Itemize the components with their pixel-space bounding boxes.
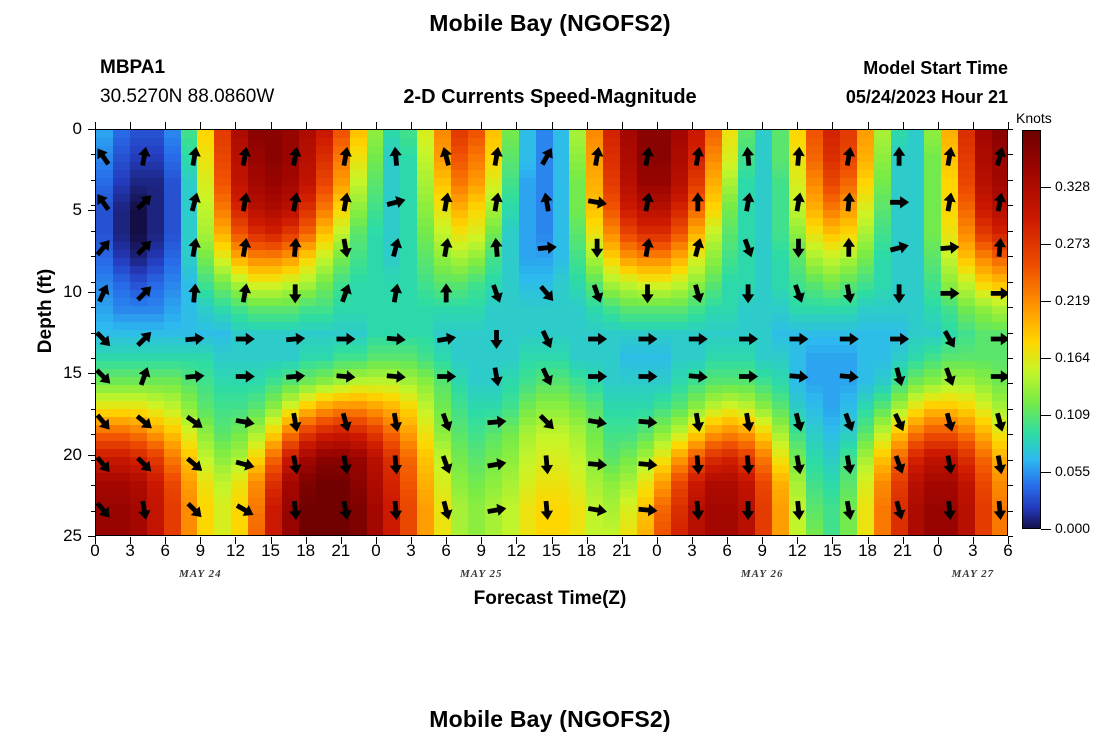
- y-axis-minor-tick: [91, 205, 96, 206]
- x-axis-tick-label: 21: [883, 541, 923, 561]
- x-axis-tick-top: [1008, 122, 1009, 129]
- y-axis-tick-label: 0: [36, 119, 82, 139]
- colorbar-tick-label: 0.219: [1055, 292, 1090, 308]
- y-axis-tick-label: 5: [36, 200, 82, 220]
- y-axis-minor-tick: [91, 409, 96, 410]
- x-axis-tick-label: 18: [848, 541, 888, 561]
- y-axis-minor-tick-right: [1008, 231, 1013, 232]
- x-axis-tick-top: [165, 122, 166, 129]
- x-axis-tick-label: 21: [602, 541, 642, 561]
- y-axis-minor-tick-right: [1008, 282, 1013, 283]
- x-axis-tick-top: [797, 122, 798, 129]
- colorbar-tick: [1041, 187, 1051, 188]
- x-axis-tick-label: 3: [672, 541, 712, 561]
- colorbar-units-label: Knots: [1016, 110, 1052, 126]
- x-axis-tick-label: 0: [356, 541, 396, 561]
- y-axis-minor-tick-right: [1008, 307, 1013, 308]
- y-axis-minor-tick: [91, 307, 96, 308]
- y-axis-minor-tick-right: [1008, 180, 1013, 181]
- x-axis-tick-top: [306, 122, 307, 129]
- x-axis-tick-label: 0: [75, 541, 115, 561]
- x-axis-tick-label: 3: [110, 541, 150, 561]
- x-axis-tick-label: 3: [953, 541, 993, 561]
- x-axis-tick-top: [130, 122, 131, 129]
- x-axis-tick-label: 12: [777, 541, 817, 561]
- y-axis-minor-tick-right: [1008, 485, 1013, 486]
- x-axis-tick-label: 21: [321, 541, 361, 561]
- x-axis-tick-label: 15: [251, 541, 291, 561]
- y-axis-minor-tick: [91, 256, 96, 257]
- x-axis-tick-top: [552, 122, 553, 129]
- y-axis-tick: [88, 210, 96, 211]
- colorbar-tick-label: 0.000: [1055, 520, 1090, 536]
- y-axis-minor-tick-right: [1008, 129, 1013, 130]
- y-axis-minor-tick-right: [1008, 460, 1013, 461]
- x-axis-tick-label: 9: [180, 541, 220, 561]
- y-axis-minor-tick: [91, 511, 96, 512]
- station-id-label: MBPA1: [100, 57, 165, 79]
- y-axis-minor-tick-right: [1008, 256, 1013, 257]
- x-axis-tick-top: [235, 122, 236, 129]
- colorbar: [1022, 130, 1041, 529]
- colorbar-tick-label: 0.273: [1055, 235, 1090, 251]
- x-axis-tick-label: 6: [145, 541, 185, 561]
- y-axis-minor-tick: [91, 282, 96, 283]
- y-axis-minor-tick-right: [1008, 434, 1013, 435]
- y-axis-minor-tick: [91, 180, 96, 181]
- y-axis-minor-tick: [91, 434, 96, 435]
- x-axis-tick-label: 15: [812, 541, 852, 561]
- colorbar-tick-label: 0.328: [1055, 178, 1090, 194]
- x-axis-tick-top: [516, 122, 517, 129]
- colorbar-tick: [1041, 472, 1051, 473]
- y-axis-minor-tick: [91, 358, 96, 359]
- model-start-time-label: Model Start Time: [863, 58, 1008, 79]
- colorbar-tick: [1041, 415, 1051, 416]
- x-axis-tick-top: [200, 122, 201, 129]
- x-axis-tick-top: [832, 122, 833, 129]
- x-axis-tick-top: [762, 122, 763, 129]
- y-axis-minor-tick-right: [1008, 383, 1013, 384]
- page-title-bottom: Mobile Bay (NGOFS2): [0, 706, 1100, 733]
- x-axis-tick-top: [622, 122, 623, 129]
- x-axis-title: Forecast Time(Z): [0, 588, 1100, 610]
- y-axis-minor-tick-right: [1008, 358, 1013, 359]
- x-axis-tick-label: 12: [215, 541, 255, 561]
- x-axis-tick-top: [903, 122, 904, 129]
- x-axis-tick-top: [938, 122, 939, 129]
- x-axis-day-label: MAY 25: [436, 568, 526, 580]
- x-axis-tick-label: 18: [286, 541, 326, 561]
- x-axis-tick-label: 0: [918, 541, 958, 561]
- y-axis-tick: [88, 373, 96, 374]
- x-axis-tick-top: [376, 122, 377, 129]
- y-axis-minor-tick-right: [1008, 511, 1013, 512]
- colorbar-tick-label: 0.164: [1055, 349, 1090, 365]
- model-start-time-value: 05/24/2023 Hour 21: [846, 87, 1008, 108]
- y-axis-title: Depth (ft): [35, 241, 57, 381]
- y-axis-tick: [88, 292, 96, 293]
- x-axis-tick-top: [657, 122, 658, 129]
- y-axis-minor-tick: [91, 333, 96, 334]
- x-axis-day-label: MAY 26: [717, 568, 807, 580]
- x-axis-day-label: MAY 27: [928, 568, 1018, 580]
- x-axis-tick-top: [973, 122, 974, 129]
- y-axis-minor-tick: [91, 485, 96, 486]
- y-axis-tick-label: 20: [36, 445, 82, 465]
- y-axis-minor-tick: [91, 460, 96, 461]
- y-axis-minor-tick: [91, 383, 96, 384]
- x-axis-tick-top: [95, 122, 96, 129]
- colorbar-tick: [1041, 529, 1051, 530]
- x-axis-tick-label: 6: [988, 541, 1028, 561]
- x-axis-day-label: MAY 24: [155, 568, 245, 580]
- x-axis-tick-top: [587, 122, 588, 129]
- colorbar-canvas: [1023, 131, 1041, 529]
- x-axis-tick-top: [446, 122, 447, 129]
- heatmap-plot-area: [95, 129, 1008, 536]
- y-axis-minor-tick-right: [1008, 333, 1013, 334]
- x-axis-tick-label: 9: [461, 541, 501, 561]
- y-axis-minor-tick: [91, 231, 96, 232]
- colorbar-tick: [1041, 244, 1051, 245]
- x-axis-tick-top: [868, 122, 869, 129]
- x-axis-tick-label: 18: [567, 541, 607, 561]
- page-title-top: Mobile Bay (NGOFS2): [0, 10, 1100, 37]
- x-axis-tick-top: [271, 122, 272, 129]
- y-axis-minor-tick: [91, 129, 96, 130]
- x-axis-tick-label: 6: [426, 541, 466, 561]
- y-axis-minor-tick: [91, 154, 96, 155]
- y-axis-minor-tick-right: [1008, 205, 1013, 206]
- x-axis-tick-label: 9: [742, 541, 782, 561]
- x-axis-tick-top: [481, 122, 482, 129]
- x-axis-tick-label: 3: [391, 541, 431, 561]
- x-axis-tick-label: 6: [707, 541, 747, 561]
- y-axis-minor-tick-right: [1008, 154, 1013, 155]
- colorbar-tick-label: 0.055: [1055, 463, 1090, 479]
- y-axis-minor-tick-right: [1008, 409, 1013, 410]
- x-axis-tick-label: 15: [532, 541, 572, 561]
- colorbar-tick: [1041, 301, 1051, 302]
- y-axis-tick: [88, 455, 96, 456]
- colorbar-tick-label: 0.109: [1055, 406, 1090, 422]
- x-axis-tick-label: 0: [637, 541, 677, 561]
- x-axis-tick-label: 12: [496, 541, 536, 561]
- x-axis-tick-top: [341, 122, 342, 129]
- heatmap-canvas: [96, 130, 1008, 536]
- x-axis-tick-top: [727, 122, 728, 129]
- x-axis-tick-top: [692, 122, 693, 129]
- x-axis-tick-top: [411, 122, 412, 129]
- colorbar-tick: [1041, 358, 1051, 359]
